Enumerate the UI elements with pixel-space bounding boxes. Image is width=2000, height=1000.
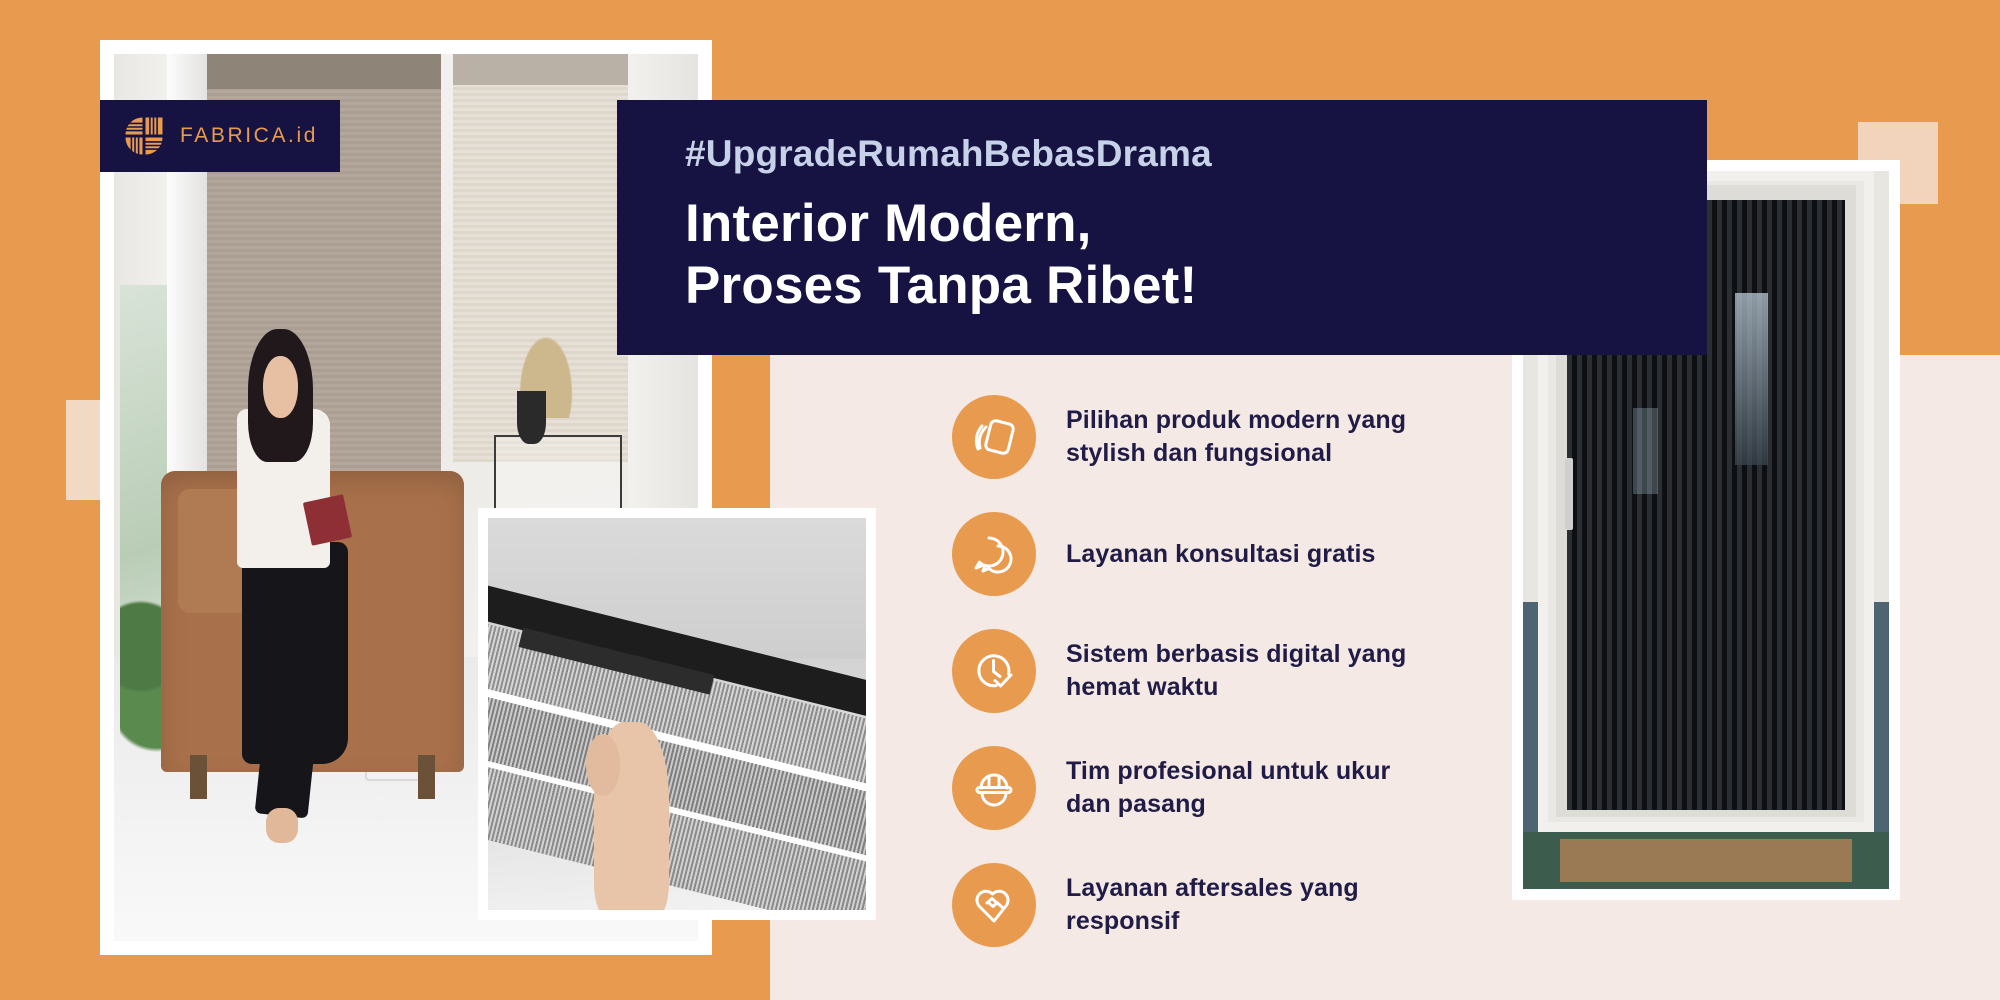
title-line-2: Proses Tanpa Ribet! [685, 256, 1197, 315]
hard-hat-icon [952, 746, 1036, 830]
feature-line-1: Layanan konsultasi gratis [1066, 540, 1376, 568]
feature-line-2: responsif [1066, 907, 1179, 935]
woven-pinwheel-logo-icon [122, 114, 166, 158]
photo-mesh-install [488, 518, 866, 910]
hashtag-text: #UpgradeRumahBebasDrama [685, 134, 1707, 175]
feature-label: Pilihan produk modern yang stylish dan f… [1066, 404, 1406, 470]
feature-line-2: hemat waktu [1066, 673, 1219, 701]
feature-line-1: Tim profesional untuk ukur [1066, 757, 1390, 785]
feature-line-1: Pilihan produk modern yang [1066, 406, 1406, 434]
headline-block: #UpgradeRumahBebasDrama Interior Modern,… [617, 100, 1707, 355]
feature-label: Tim profesional untuk ukur dan pasang [1066, 755, 1390, 821]
feature-item: Layanan konsultasi gratis [952, 512, 1472, 596]
feature-item: Layanan aftersales yang responsif [952, 863, 1472, 947]
clock-check-icon [952, 629, 1036, 713]
feature-line-2: stylish dan fungsional [1066, 439, 1332, 467]
feature-item: Tim profesional untuk ukur dan pasang [952, 746, 1472, 830]
feature-line-1: Sistem berbasis digital yang [1066, 640, 1406, 668]
poster-canvas: #UpgradeRumahBebasDrama Interior Modern,… [0, 0, 2000, 1000]
feature-label: Layanan aftersales yang responsif [1066, 872, 1359, 938]
feature-label: Layanan konsultasi gratis [1066, 538, 1376, 571]
title-line-1: Interior Modern, [685, 194, 1092, 253]
feature-line-2: dan pasang [1066, 790, 1206, 818]
brand-name: FABRICA.id [180, 124, 318, 148]
photo-card-mesh-install [478, 508, 876, 920]
heart-handshake-icon [952, 863, 1036, 947]
brand-logo-badge[interactable]: FABRICA.id [100, 100, 340, 172]
feature-item: Pilihan produk modern yang stylish dan f… [952, 395, 1472, 479]
feature-list: Pilihan produk modern yang stylish dan f… [952, 395, 1472, 947]
feature-item: Sistem berbasis digital yang hemat waktu [952, 629, 1472, 713]
fabric-swatch-icon [952, 395, 1036, 479]
page-title: Interior Modern, Proses Tanpa Ribet! [685, 193, 1707, 318]
chat-bubbles-icon [952, 512, 1036, 596]
feature-line-1: Layanan aftersales yang [1066, 874, 1359, 902]
feature-label: Sistem berbasis digital yang hemat waktu [1066, 638, 1406, 704]
